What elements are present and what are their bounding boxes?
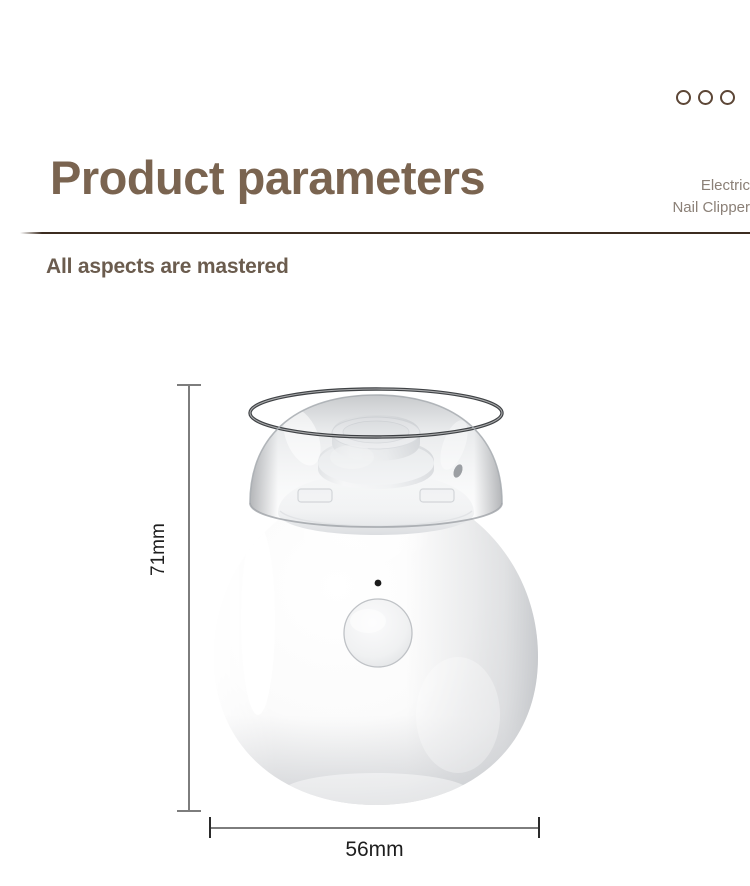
height-dimension-label: 71mm: [148, 536, 170, 576]
width-dimension-label: 56mm: [209, 838, 540, 862]
header-divider: [20, 232, 750, 234]
width-dimension-line: [209, 827, 540, 829]
circle-icon-1: [676, 90, 691, 105]
height-dimension-cap-bottom: [177, 810, 201, 812]
width-dimension-cap-left: [209, 817, 211, 838]
height-dimension-cap-top: [177, 384, 201, 386]
three-circles-icon: [676, 90, 735, 105]
circle-icon-2: [698, 90, 713, 105]
height-dimension-line: [188, 384, 190, 812]
transparent-dome-cap: [236, 385, 516, 535]
brand-label-line1: Electric: [630, 175, 750, 197]
product-parameters-page: Product parameters Electric Nail Clipper…: [0, 0, 750, 886]
brand-label: Electric Nail Clipper: [630, 175, 750, 219]
page-title: Product parameters: [50, 152, 485, 204]
power-button: [344, 599, 412, 667]
led-indicator: [375, 580, 382, 587]
product-image: [206, 385, 546, 813]
page-subtitle: All aspects are mastered: [46, 255, 289, 279]
brand-label-line2: Nail Clipper: [630, 197, 750, 219]
width-dimension-cap-right: [538, 817, 540, 838]
circle-icon-3: [720, 90, 735, 105]
